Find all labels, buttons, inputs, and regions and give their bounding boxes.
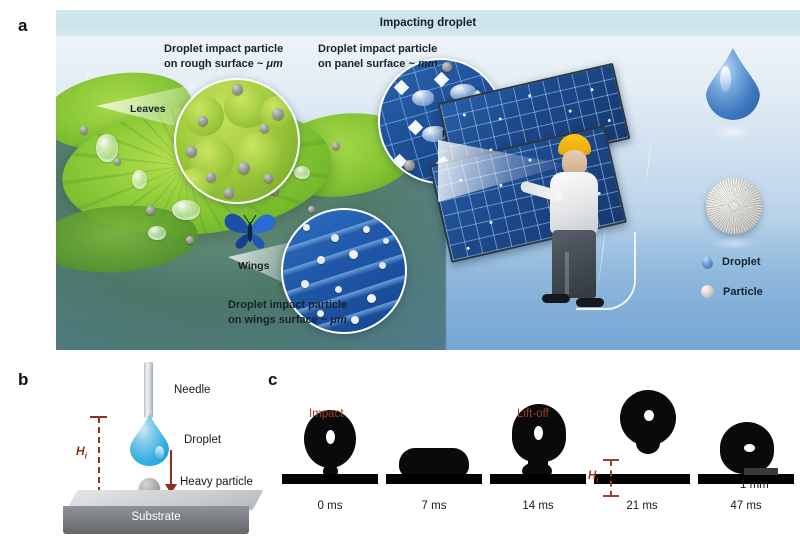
droplet-highlight-hole [326, 430, 335, 444]
substrate-label: Substrate [63, 511, 249, 523]
panel-c-letter: c [268, 370, 277, 390]
panel-c-timelapse: 0 ms 7 ms 14 ms 21 ms 47 ms Impact Lift-… [282, 372, 800, 538]
water-droplet-on-leaf [172, 200, 200, 220]
particle-dot [332, 142, 340, 150]
panel-a-header-band: Impacting droplet [56, 10, 800, 36]
inset-label-leaves: Leaves [130, 103, 166, 115]
solar-array-scene [444, 82, 664, 302]
impact-height-subscript: i [85, 451, 87, 460]
droplet-highlight-hole [744, 444, 755, 452]
frame-time-label: 0 ms [282, 500, 378, 512]
frame-time-label: 21 ms [594, 500, 690, 512]
callout-rough-line1: Droplet impact particle [164, 43, 283, 55]
timelapse-frame: 14 ms [490, 372, 586, 512]
particle-dot [80, 126, 88, 134]
callout-wings-unit: μm [330, 314, 346, 326]
droplet-reflection [712, 124, 754, 140]
callout-wings-line2: on wings surface ~ [228, 314, 330, 326]
legend-row-particle: Particle [701, 285, 763, 298]
particle-icon [701, 285, 714, 298]
hose [576, 232, 636, 310]
callout-panel-surface: Droplet impact particle on panel surface… [318, 42, 438, 71]
frame-time-label: 7 ms [386, 500, 482, 512]
callout-wings-line1: Droplet impact particle [228, 299, 347, 311]
timelapse-frame: 47 ms [698, 372, 794, 512]
inset-label-wings: Wings [238, 260, 269, 272]
substrate-line [386, 474, 482, 484]
particle-dot [186, 236, 194, 244]
impact-height-label: Hi [76, 444, 87, 460]
frame-time-label: 14 ms [490, 500, 586, 512]
callout-rough-surface: Droplet impact particle on rough surface… [164, 42, 283, 71]
callout-wings-surface: Droplet impact particle on wings surface… [228, 298, 347, 327]
impact-arrow-shaft [170, 450, 172, 488]
annotation-impact: Impact [309, 408, 344, 420]
needle-label: Needle [174, 384, 210, 396]
worker-leg-split [565, 252, 569, 298]
particle-dot [308, 206, 315, 213]
blue-butterfly-icon [222, 206, 278, 250]
substrate-line [490, 474, 586, 484]
timelapse-frame: 0 ms [282, 372, 378, 512]
impact-height-symbol: H [76, 444, 85, 458]
callout-rough-line2: on rough surface ~ [164, 58, 266, 70]
liftoff-height-dashed-line [610, 460, 612, 497]
liftoff-height-subscript: i [596, 475, 598, 484]
callout-panel-line1: Droplet impact particle [318, 43, 437, 55]
scale-bar-label: 1 mm [740, 479, 769, 491]
water-droplet-on-leaf [294, 166, 310, 179]
droplet-tail [636, 432, 660, 454]
scale-bar [744, 468, 778, 475]
droplet-highlight-hole [534, 426, 543, 440]
legend-droplet-illustration [706, 48, 760, 120]
timelapse-frame: 7 ms [386, 372, 482, 512]
legend-row-droplet: Droplet [702, 254, 761, 269]
panel-a-letter: a [18, 16, 27, 36]
substrate-line [594, 474, 690, 484]
legend-droplet-label: Droplet [722, 256, 761, 268]
heavy-particle-label: Heavy particle [180, 476, 253, 488]
worker-figure [536, 134, 606, 306]
impact-height-cap-top [90, 416, 107, 418]
droplet-label: Droplet [184, 434, 221, 446]
legend-particle-illustration [706, 178, 762, 234]
particle-dot [146, 206, 155, 215]
callout-rough-unit: μm [266, 58, 282, 70]
panel-b-schematic: Hi Substrate Needle Droplet Heavy partic… [56, 372, 276, 538]
impacting-droplet-title: Impacting droplet [380, 17, 476, 29]
inset-rough-surface [174, 78, 300, 204]
legend-particle-label: Particle [723, 286, 763, 298]
water-droplet-on-leaf [148, 226, 166, 240]
droplet-illustration [130, 414, 169, 466]
liftoff-height-cap-bottom [603, 495, 619, 497]
frame-time-label: 47 ms [698, 500, 794, 512]
droplet-highlight-hole [644, 410, 654, 421]
droplet-icon [702, 254, 713, 269]
worker-torso [550, 172, 598, 234]
liftoff-height-cap-top [603, 459, 619, 461]
needle-illustration [144, 362, 153, 418]
droplet-highlight [155, 446, 164, 459]
impact-height-dashed-line [98, 417, 100, 493]
droplet-highlight [720, 66, 731, 92]
annotation-liftoff: Lift-off [517, 408, 549, 420]
particle-texture [706, 178, 762, 234]
callout-panel-unit: mm [418, 58, 438, 70]
substrate-line [282, 474, 378, 484]
panel-a-illustration: Impacting droplet [56, 10, 800, 350]
particle-dot [114, 158, 121, 165]
water-droplet-on-leaf [132, 170, 147, 189]
particle-reflection [712, 236, 756, 250]
panel-a-legend: Droplet Particle [674, 44, 794, 344]
liftoff-height-label: Hi [588, 470, 598, 484]
callout-panel-line2: on panel surface ~ [318, 58, 418, 70]
timelapse-frame: 21 ms [594, 372, 690, 512]
worker-shoe [542, 294, 570, 303]
panel-b-letter: b [18, 370, 28, 390]
